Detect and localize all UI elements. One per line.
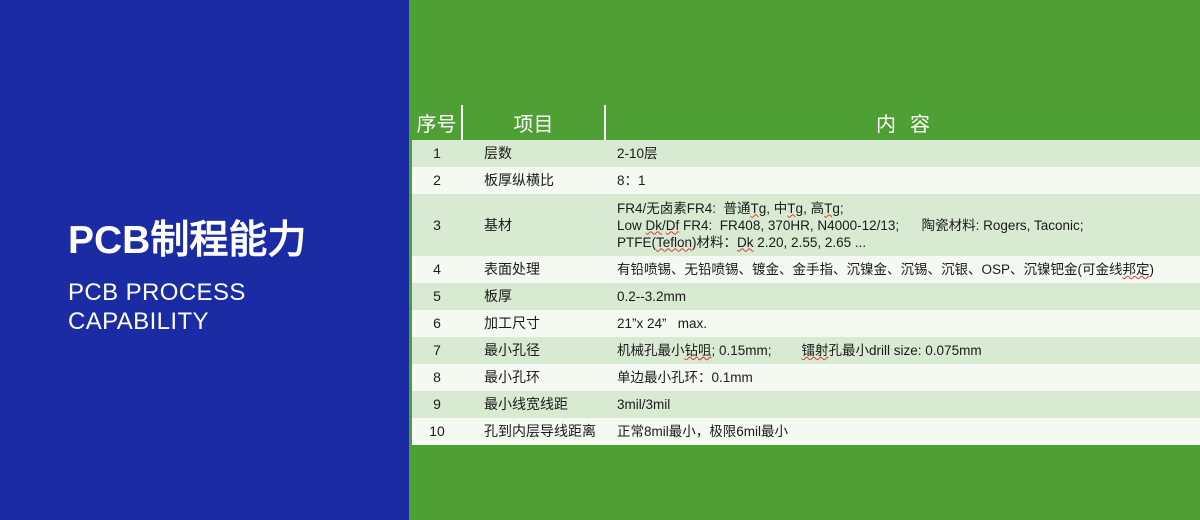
column-header-no: 序号: [412, 105, 462, 140]
cell-item: 板厚: [462, 283, 605, 310]
page-title: PCB制程能力: [68, 218, 398, 264]
slide-canvas: PCB制程能力 PCB PROCESS CAPABILITY 序号 项目 内容 …: [0, 0, 1200, 520]
pcb-capability-table: 序号 项目 内容 1层数2-10层2板厚纵横比8：13基材FR4/无卤素FR4:…: [412, 105, 1200, 445]
cell-content: 3mil/3mil: [605, 391, 1200, 418]
table-row: 2板厚纵横比8：1: [412, 167, 1200, 194]
table-body: 1层数2-10层2板厚纵横比8：13基材FR4/无卤素FR4: 普通Tg, 中T…: [412, 140, 1200, 445]
cell-item: 加工尺寸: [462, 310, 605, 337]
cell-content: 0.2--3.2mm: [605, 283, 1200, 310]
cell-content-line: 有铅喷锡、无铅喷锡、镀金、金手指、沉镍金、沉锡、沉银、OSP、沉镍钯金(可金线邦…: [617, 261, 1200, 278]
cell-content-line: 正常8mil最小，极限6mil最小: [617, 423, 1200, 440]
cell-content: 单边最小孔环：0.1mm: [605, 364, 1200, 391]
table-header-row: 序号 项目 内容: [412, 105, 1200, 140]
cell-no: 5: [412, 283, 462, 310]
cell-content-line: 21”x 24” max.: [617, 315, 1200, 332]
cell-item: 基材: [462, 194, 605, 256]
cell-no: 1: [412, 140, 462, 167]
cell-content: 机械孔最小钻咀; 0.15mm; 镭射孔最小drill size: 0.075m…: [605, 337, 1200, 364]
cell-content-line: FR4/无卤素FR4: 普通Tg, 中Tg, 高Tg;: [617, 200, 1200, 217]
column-header-item: 项目: [462, 105, 605, 140]
cell-no: 6: [412, 310, 462, 337]
cell-item: 最小孔径: [462, 337, 605, 364]
cell-no: 2: [412, 167, 462, 194]
page-subtitle: PCB PROCESS CAPABILITY: [68, 278, 398, 336]
cell-no: 8: [412, 364, 462, 391]
cell-content: 2-10层: [605, 140, 1200, 167]
table-row: 6加工尺寸21”x 24” max.: [412, 310, 1200, 337]
cell-item: 层数: [462, 140, 605, 167]
cell-item: 最小孔环: [462, 364, 605, 391]
cell-item: 板厚纵横比: [462, 167, 605, 194]
cell-content: 有铅喷锡、无铅喷锡、镀金、金手指、沉镍金、沉锡、沉银、OSP、沉镍钯金(可金线邦…: [605, 256, 1200, 283]
cell-content-line: 2-10层: [617, 145, 1200, 162]
table-row: 7最小孔径机械孔最小钻咀; 0.15mm; 镭射孔最小drill size: 0…: [412, 337, 1200, 364]
cell-item: 最小线宽线距: [462, 391, 605, 418]
cell-content: 8：1: [605, 167, 1200, 194]
cell-no: 10: [412, 418, 462, 445]
cell-content-line: PTFE(Teflon)材料：Dk 2.20, 2.55, 2.65 ...: [617, 234, 1200, 251]
column-header-content-label: 内容: [862, 114, 944, 136]
table-row: 4表面处理有铅喷锡、无铅喷锡、镀金、金手指、沉镍金、沉锡、沉银、OSP、沉镍钯金…: [412, 256, 1200, 283]
table-header: 序号 项目 内容: [412, 105, 1200, 140]
cell-no: 4: [412, 256, 462, 283]
cell-no: 7: [412, 337, 462, 364]
table-row: 3基材FR4/无卤素FR4: 普通Tg, 中Tg, 高Tg;Low Dk/Df …: [412, 194, 1200, 256]
cell-content: 21”x 24” max.: [605, 310, 1200, 337]
cell-content-line: 机械孔最小钻咀; 0.15mm; 镭射孔最小drill size: 0.075m…: [617, 342, 1200, 359]
cell-no: 9: [412, 391, 462, 418]
cell-content-line: 单边最小孔环：0.1mm: [617, 369, 1200, 386]
table-row: 5板厚0.2--3.2mm: [412, 283, 1200, 310]
cell-content-line: 3mil/3mil: [617, 396, 1200, 413]
left-title-panel: PCB制程能力 PCB PROCESS CAPABILITY: [0, 0, 409, 520]
table-row: 1层数2-10层: [412, 140, 1200, 167]
cell-item: 表面处理: [462, 256, 605, 283]
cell-no: 3: [412, 194, 462, 256]
cell-content-line: 0.2--3.2mm: [617, 288, 1200, 305]
cell-content-line: Low Dk/Df FR4: FR408, 370HR, N4000-12/13…: [617, 217, 1200, 234]
right-content-panel: 序号 项目 内容 1层数2-10层2板厚纵横比8：13基材FR4/无卤素FR4:…: [409, 0, 1200, 520]
table-row: 9最小线宽线距3mil/3mil: [412, 391, 1200, 418]
cell-item: 孔到内层导线距离: [462, 418, 605, 445]
table-row: 10孔到内层导线距离正常8mil最小，极限6mil最小: [412, 418, 1200, 445]
cell-content-line: 8：1: [617, 172, 1200, 189]
column-header-content: 内容: [605, 105, 1200, 140]
title-block: PCB制程能力 PCB PROCESS CAPABILITY: [68, 218, 398, 336]
cell-content: 正常8mil最小，极限6mil最小: [605, 418, 1200, 445]
table-row: 8最小孔环单边最小孔环：0.1mm: [412, 364, 1200, 391]
cell-content: FR4/无卤素FR4: 普通Tg, 中Tg, 高Tg;Low Dk/Df FR4…: [605, 194, 1200, 256]
